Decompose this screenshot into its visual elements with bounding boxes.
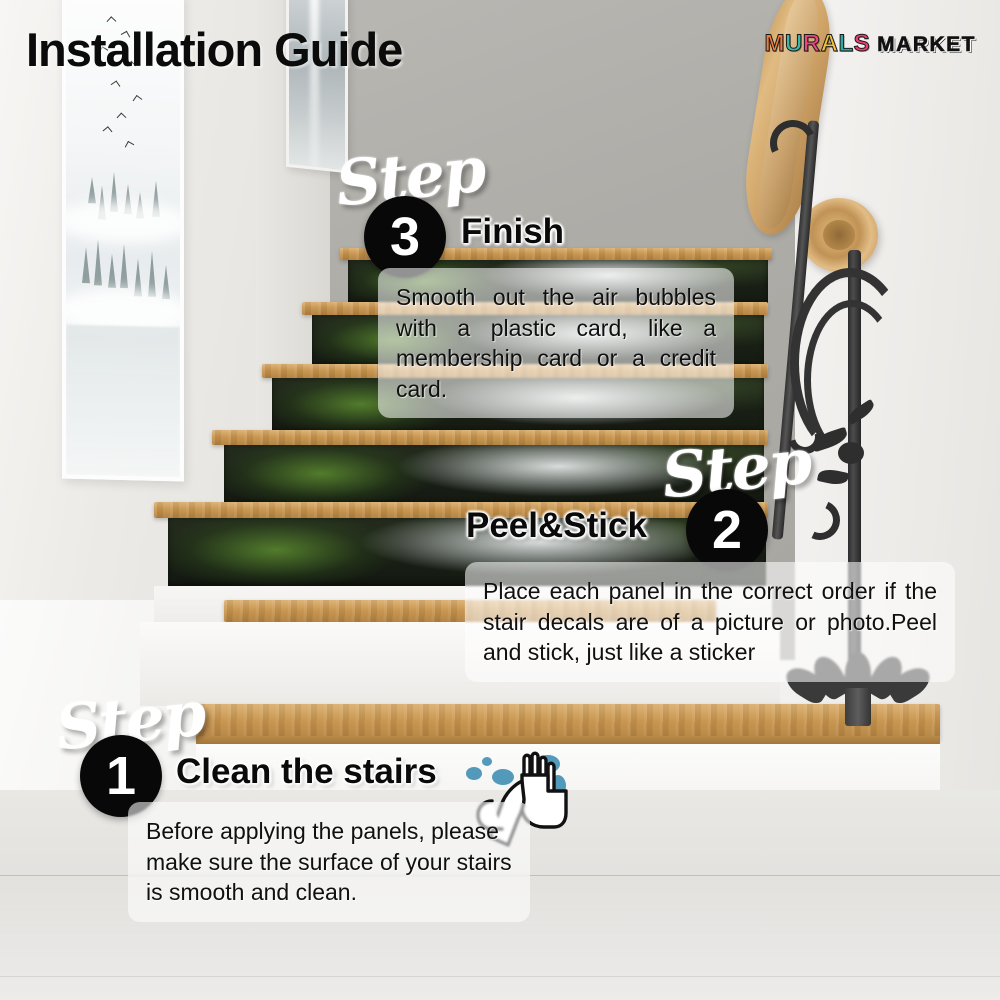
step-1-description-box: Before applying the panels, please make … bbox=[128, 802, 530, 922]
handrail-volute-scroll bbox=[800, 198, 878, 272]
step-3-number-badge: 3 bbox=[364, 196, 446, 278]
logo-letter: R bbox=[803, 30, 821, 58]
logo-letter: U bbox=[785, 30, 803, 58]
iron-post-base bbox=[845, 688, 871, 726]
iron-leaf-ornament bbox=[838, 442, 864, 464]
step-2-description-box: Place each panel in the correct order if… bbox=[465, 562, 955, 682]
logo-letter: S bbox=[854, 30, 871, 58]
tree-shape bbox=[108, 254, 116, 288]
tree-shape bbox=[120, 244, 128, 288]
tree-shape bbox=[88, 177, 96, 203]
logo-letter: M bbox=[764, 30, 785, 58]
step-3-label: Finish bbox=[461, 212, 564, 252]
step-2-label: Peel&Stick bbox=[466, 506, 647, 546]
tree-shape bbox=[94, 239, 102, 285]
step-1-description-text: Before applying the panels, please make … bbox=[146, 816, 512, 908]
step-2-description-text: Place each panel in the correct order if… bbox=[483, 576, 937, 668]
brand-logo: M U R A L S MARKET bbox=[764, 30, 976, 58]
step-3-description-text: Smooth out the air bubbles with a plasti… bbox=[396, 282, 716, 404]
logo-letter: L bbox=[838, 30, 853, 58]
logo-letter: A bbox=[821, 30, 839, 58]
tree-shape bbox=[82, 247, 90, 283]
installation-guide-infographic: Installation Guide M U R A L S MARKET St… bbox=[0, 0, 1000, 1000]
stair-tread-bottom bbox=[196, 704, 940, 740]
page-title: Installation Guide bbox=[26, 22, 402, 77]
logo-murals-word: M U R A L S bbox=[764, 30, 870, 58]
logo-market-word: MARKET bbox=[877, 33, 976, 57]
step-2-number-badge: 2 bbox=[686, 489, 768, 571]
artwork-water bbox=[66, 325, 180, 478]
step-3-description-box: Smooth out the air bubbles with a plasti… bbox=[378, 268, 734, 418]
step-1-label: Clean the stairs bbox=[176, 752, 437, 792]
